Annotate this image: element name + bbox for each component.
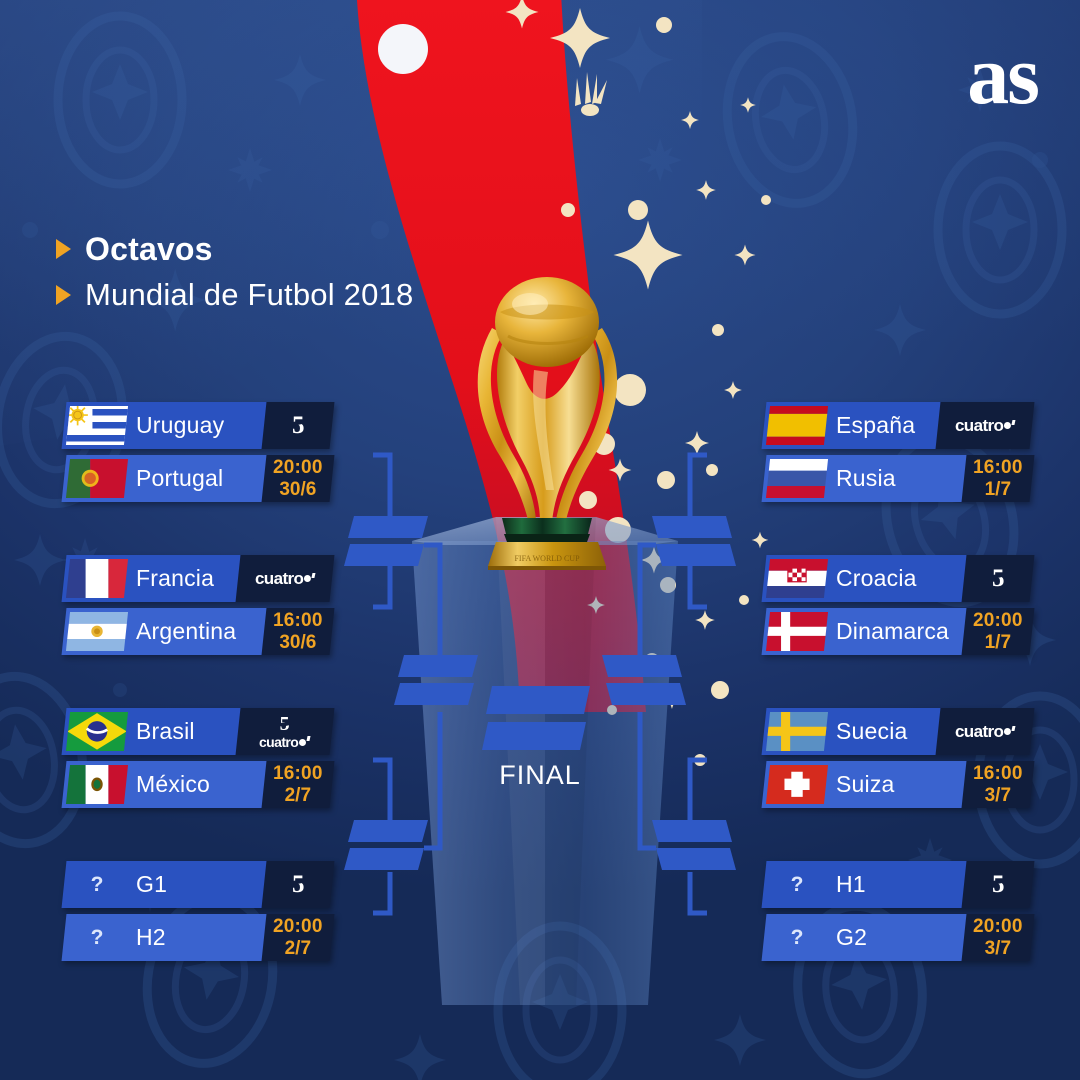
table-row[interactable]: Uruguay 5 [64,402,326,449]
channel-badge: 5 [262,402,335,449]
match-time-badge: 20:00 30/6 [262,455,335,502]
match-date: 1/7 [973,633,1023,652]
telecinco-logo-icon: 5 [992,566,1005,591]
flag-francia-icon [66,559,128,598]
match-date: 2/7 [273,939,323,958]
table-row[interactable]: España cuatro [764,402,1026,449]
title-row-sub: Mundial de Futbol 2018 [56,272,413,318]
match-time: 16:00 [973,764,1023,783]
table-row[interactable]: Suecia cuatro [764,708,1026,755]
channel-badge: cuatro [936,708,1035,755]
table-row[interactable]: Suiza 16:00 3/7 [764,761,1026,808]
table-row[interactable]: Croacia 5 [764,555,1026,602]
flag-uruguay-icon [66,406,128,445]
flag-argentina-icon [66,612,128,651]
table-row[interactable]: ? H2 20:00 2/7 [64,914,326,961]
match-card-h1-g2[interactable]: ? H1 5 ? G2 20:00 3/7 [764,861,1026,967]
flag-suecia-icon [766,712,828,751]
match-card-g1-h2[interactable]: ? G1 5 ? H2 20:00 2/7 [64,861,326,967]
telecinco-logo-icon: 5 [280,714,290,734]
telecinco-logo-icon: 5 [992,872,1005,897]
channel-badge: 5 [262,861,335,908]
match-time: 16:00 [273,764,323,783]
match-time-badge: 16:00 3/7 [962,761,1035,808]
match-card-uruguay-portugal[interactable]: Uruguay 5 Portugal [64,402,326,508]
match-time: 20:00 [273,917,323,936]
page-title: Octavos [85,231,213,268]
triangle-bullet-icon [56,285,71,305]
match-time: 20:00 [973,917,1023,936]
match-card-brasil-mexico[interactable]: Brasil 5 cuatro [64,708,326,814]
svg-text:FIFA WORLD CUP: FIFA WORLD CUP [514,554,580,563]
match-card-espana-rusia[interactable]: España cuatro [764,402,1026,508]
channel-badge: 5 [962,555,1035,602]
table-row[interactable]: ? H1 5 [764,861,1026,908]
flag-brasil-icon [66,712,128,751]
telecinco-logo-icon: 5 [292,872,305,897]
match-card-suecia-suiza[interactable]: Suecia cuatro [764,708,1026,814]
infographic-canvas: FIFA WORLD CUP [0,0,1080,1080]
match-time: 16:00 [973,458,1023,477]
match-time: 16:00 [273,611,323,630]
title-block: Octavos Mundial de Futbol 2018 [56,226,413,318]
flag-portugal-icon [66,459,128,498]
table-row[interactable]: Portugal 20:00 30/6 [64,455,326,502]
match-date: 30/6 [273,480,323,499]
table-row[interactable]: Francia cuatro [64,555,326,602]
match-time-badge: 20:00 1/7 [962,608,1035,655]
flag-dinamarca-icon [766,612,828,651]
flag-croacia-icon [766,559,828,598]
match-date: 2/7 [273,786,323,805]
match-time: 20:00 [273,458,323,477]
channel-badge: cuatro [236,555,335,602]
match-time: 20:00 [973,611,1023,630]
match-card-francia-argentina[interactable]: Francia cuatro [64,555,326,661]
unknown-team-icon: ? [768,914,826,961]
match-time-badge: 16:00 30/6 [262,608,335,655]
match-date: 3/7 [973,939,1023,958]
title-row-main: Octavos [56,226,413,272]
flag-mexico-icon [66,765,128,804]
channel-badge: 5 cuatro [236,708,335,755]
unknown-team-icon: ? [68,861,126,908]
page-subtitle: Mundial de Futbol 2018 [85,277,413,313]
flag-espana-icon [766,406,828,445]
table-row[interactable]: Brasil 5 cuatro [64,708,326,755]
table-row[interactable]: ? G2 20:00 3/7 [764,914,1026,961]
match-time-badge: 20:00 3/7 [962,914,1035,961]
match-time-badge: 16:00 2/7 [262,761,335,808]
as-logo: as [967,34,1038,118]
table-row[interactable]: Dinamarca 20:00 1/7 [764,608,1026,655]
cuatro-logo-icon: cuatro [259,735,310,749]
match-card-croacia-dinamarca[interactable]: Croacia 5 Dinamarca 20:00 [764,555,1026,661]
match-time-badge: 16:00 1/7 [962,455,1035,502]
unknown-team-icon: ? [68,914,126,961]
flag-rusia-icon [766,459,828,498]
cuatro-logo-icon: cuatro [955,723,1015,740]
match-date: 30/6 [273,633,323,652]
table-row[interactable]: Argentina 16:00 30/6 [64,608,326,655]
channel-badge: 5 [962,861,1035,908]
table-row[interactable]: Rusia 16:00 1/7 [764,455,1026,502]
unknown-team-icon: ? [768,861,826,908]
triangle-bullet-icon [56,239,71,259]
telecinco-logo-icon: 5 [292,413,305,438]
table-row[interactable]: ? G1 5 [64,861,326,908]
cuatro-logo-icon: cuatro [955,417,1015,434]
channel-badge: cuatro [936,402,1035,449]
world-cup-trophy: FIFA WORLD CUP [430,250,660,570]
match-date: 1/7 [973,480,1023,499]
table-row[interactable]: México 16:00 2/7 [64,761,326,808]
match-time-badge: 20:00 2/7 [262,914,335,961]
flag-suiza-icon [766,765,828,804]
match-date: 3/7 [973,786,1023,805]
cuatro-logo-icon: cuatro [255,570,315,587]
